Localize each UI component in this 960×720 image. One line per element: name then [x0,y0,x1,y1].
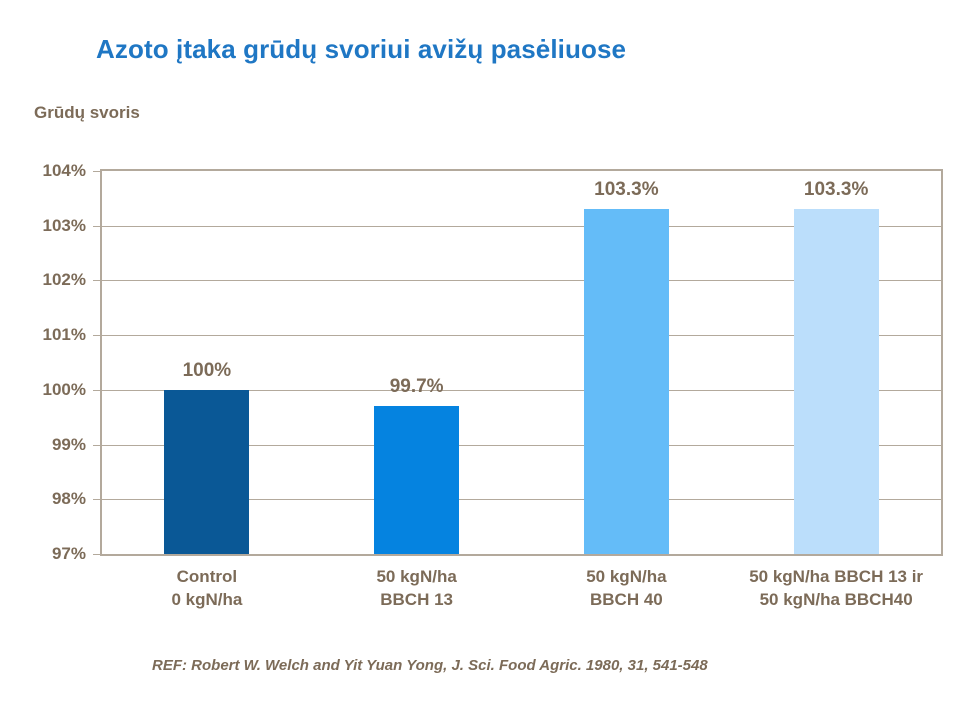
bar-value-label: 103.3% [594,179,658,201]
x-axis-category-line: BBCH 40 [586,589,666,612]
bar[interactable] [374,406,459,554]
y-axis-tick-label: 104% [14,161,86,181]
x-axis-category-label: 50 kgN/haBBCH 40 [586,566,666,611]
reference-note: REF: Robert W. Welch and Yit Yuan Yong, … [152,657,708,674]
y-axis-tick-label: 100% [14,380,86,400]
x-axis-category-line: 50 kgN/ha BBCH 13 ir [749,566,923,589]
bar[interactable] [794,209,879,554]
x-axis-category-line: 50 kgN/ha [376,566,456,589]
y-axis-title: Grūdų svoris [34,103,140,123]
y-axis-tick-label: 103% [14,216,86,236]
y-axis-tick [93,280,100,281]
x-axis-category-label: 50 kgN/haBBCH 13 [376,566,456,611]
y-axis-tick-label: 97% [14,544,86,564]
y-axis-tick [93,335,100,336]
y-axis-tick [93,390,100,391]
y-axis-tick-label: 101% [14,325,86,345]
bar[interactable] [164,390,249,554]
x-axis-category-line: 50 kgN/ha BBCH40 [749,589,923,612]
y-axis-tick-label: 99% [14,435,86,455]
bar-value-label: 99.7% [390,376,444,398]
y-axis-tick-label: 102% [14,270,86,290]
y-axis-tick [93,226,100,227]
y-axis-tick-label: 98% [14,489,86,509]
x-axis-category-line: 50 kgN/ha [586,566,666,589]
x-axis-category-line: 0 kgN/ha [171,589,242,612]
chart-title: Azoto įtaka grūdų svoriui avižų pasėliuo… [96,34,626,65]
bar-value-label: 103.3% [804,179,868,201]
x-axis-category-line: Control [171,566,242,589]
x-axis-category-line: BBCH 13 [376,589,456,612]
bar[interactable] [584,209,669,554]
bar-value-label: 100% [183,360,232,382]
x-axis-category-label: Control0 kgN/ha [171,566,242,611]
y-axis-tick [93,171,100,172]
y-axis-tick [93,445,100,446]
y-axis-tick [93,499,100,500]
y-axis-tick [93,554,100,555]
x-axis-category-label: 50 kgN/ha BBCH 13 ir50 kgN/ha BBCH40 [749,566,923,611]
